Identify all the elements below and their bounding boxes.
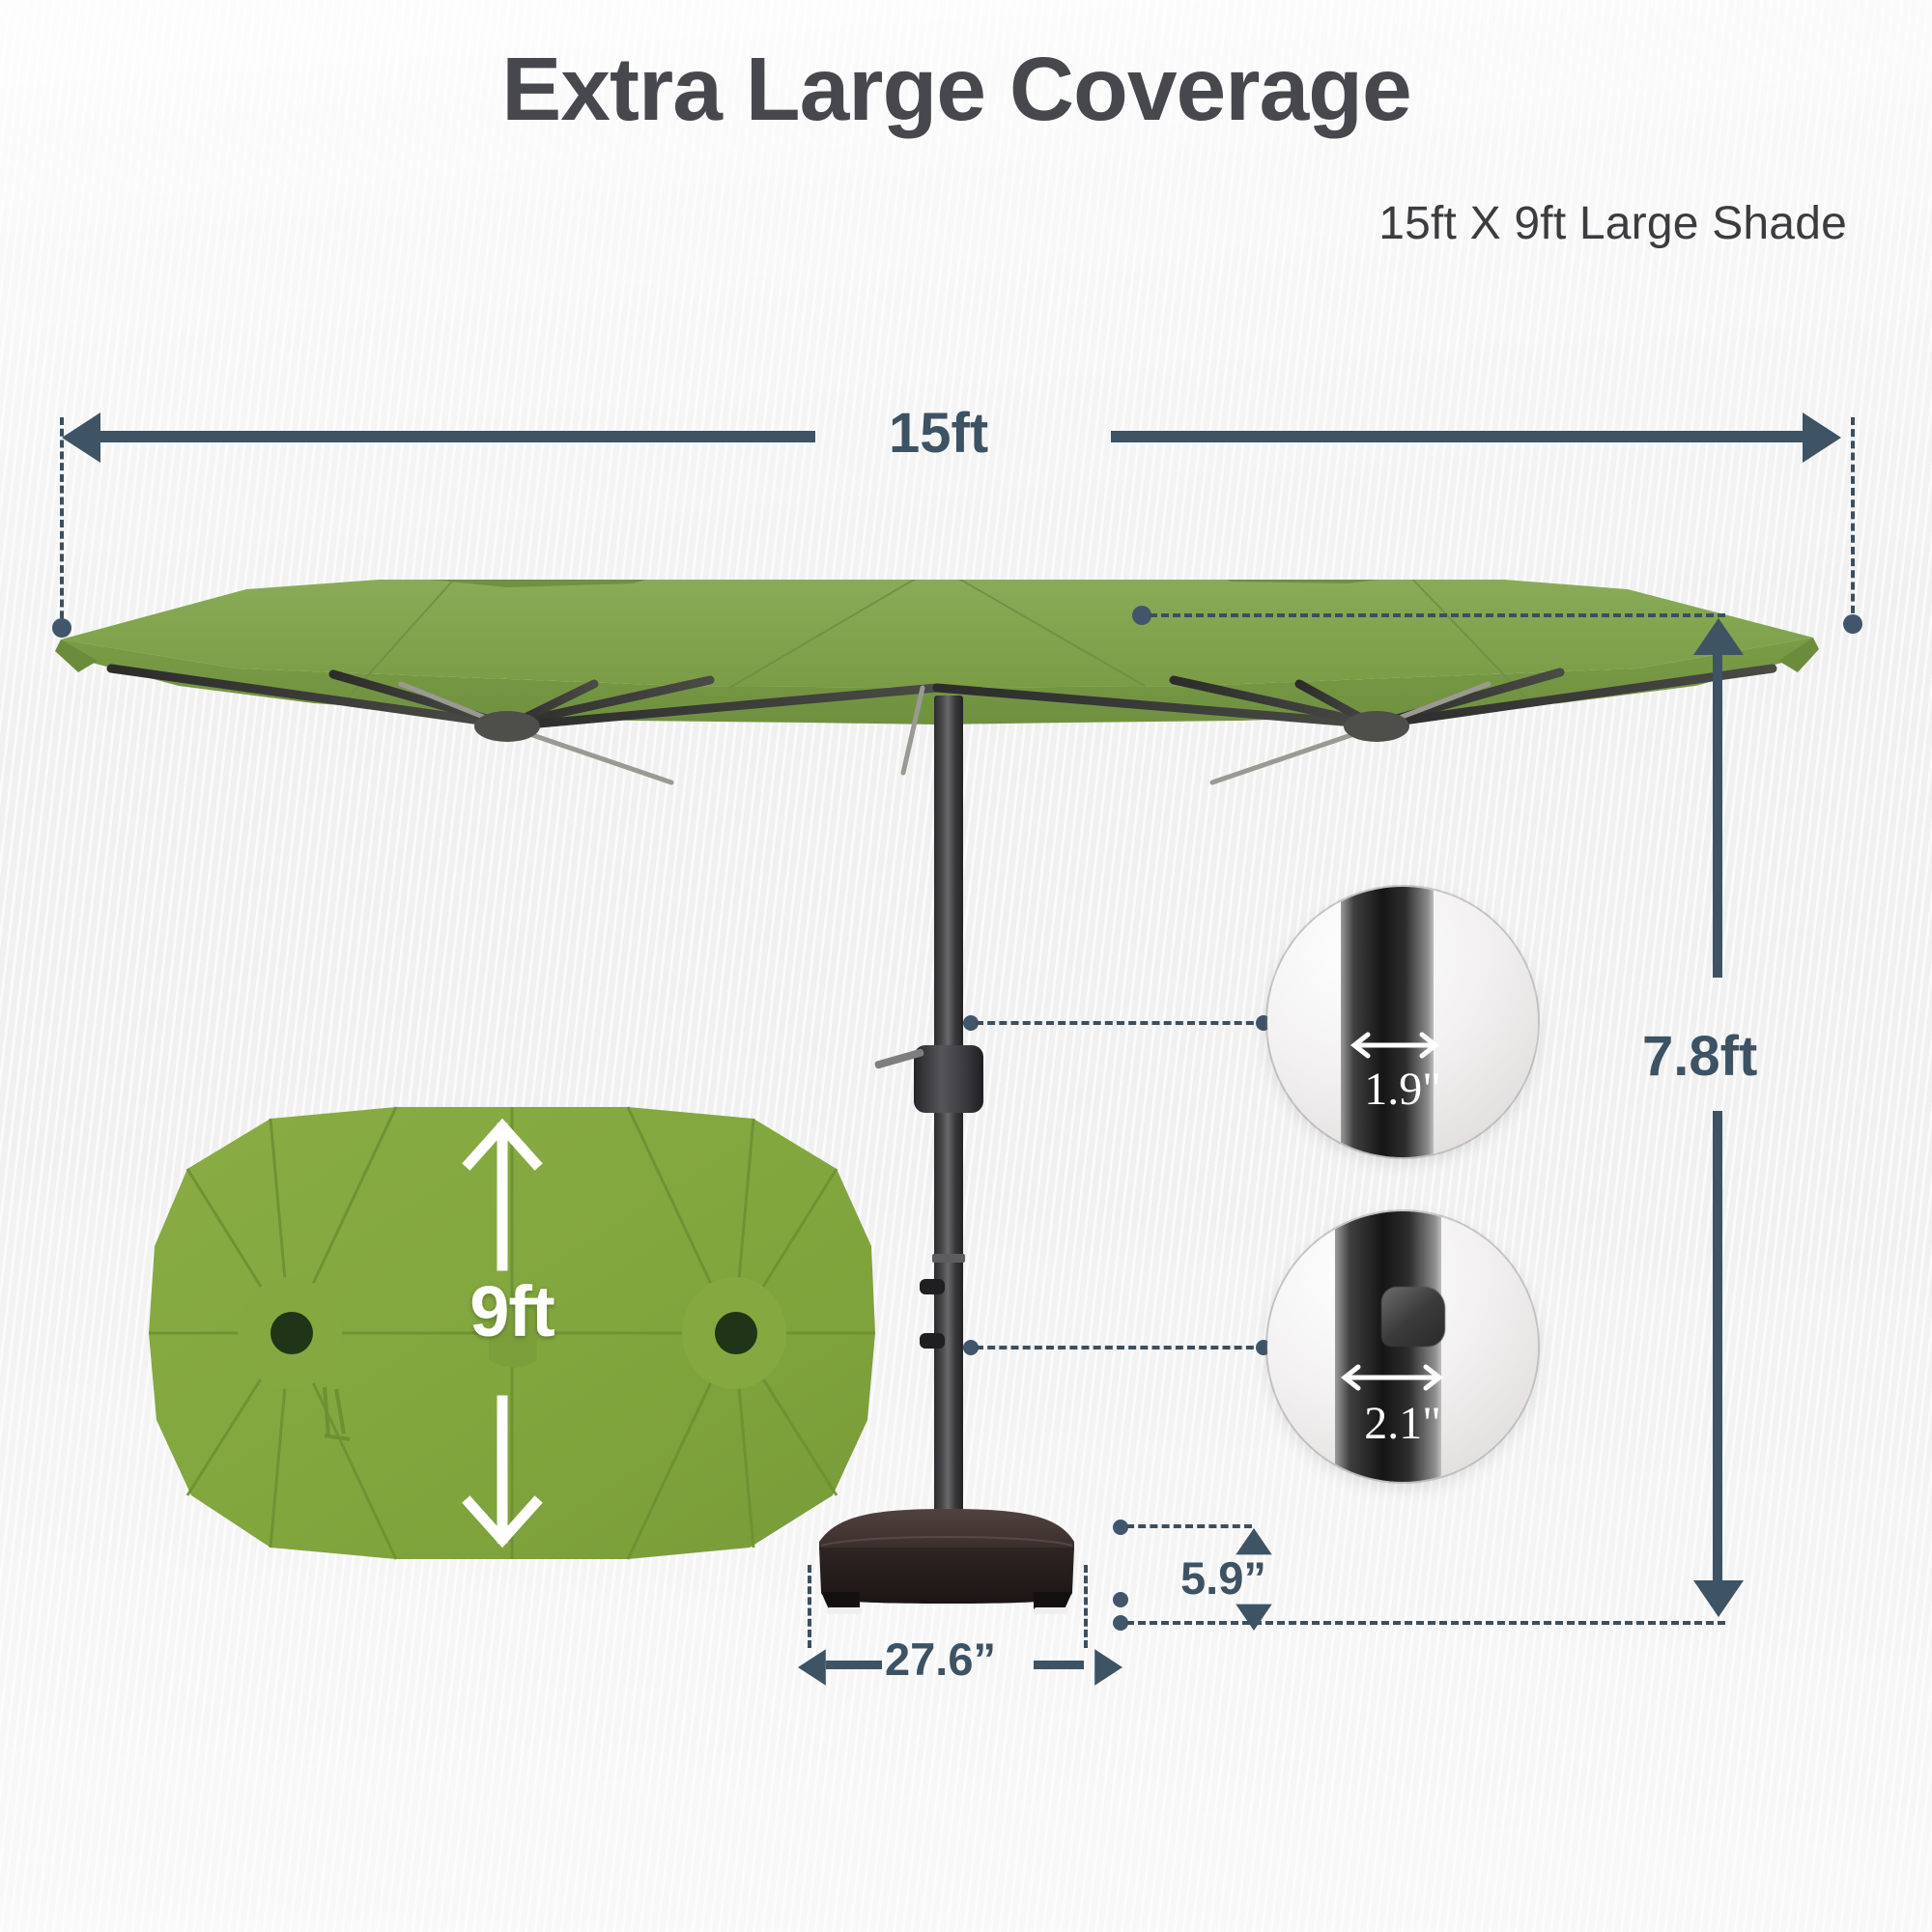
page-title: Extra Large Coverage xyxy=(0,43,1932,137)
base-foot-right xyxy=(1034,1592,1072,1609)
umbrella-center-pole xyxy=(934,696,963,1546)
canopy-depth-label: 9ft xyxy=(145,1270,879,1352)
base-width-extension-right xyxy=(1084,1565,1088,1648)
canopy-hub-left xyxy=(474,711,540,742)
height-leader-top xyxy=(1150,613,1725,617)
upper-pole-leader-line xyxy=(976,1021,1265,1025)
base-width-line-right xyxy=(1034,1661,1084,1669)
height-arrowhead-top xyxy=(1693,618,1744,655)
magnifier-upper-pole: 1.9" xyxy=(1267,887,1538,1157)
lower-pole-caliper xyxy=(1267,1358,1538,1397)
base-width-line-left xyxy=(826,1661,882,1669)
height-line-lower xyxy=(1713,1111,1722,1580)
base-foot-left xyxy=(821,1592,860,1609)
width-label: 15ft xyxy=(889,401,988,466)
base-height-leader-top xyxy=(1126,1524,1252,1528)
width-anchor-dot-right xyxy=(1843,614,1862,634)
base-height-anchor-dot-bottom xyxy=(1113,1592,1128,1607)
base-height-arrowhead-bottom xyxy=(1236,1605,1271,1631)
height-label: 7.8ft xyxy=(1642,1024,1757,1089)
base-pad-left xyxy=(827,1607,862,1614)
width-arrowhead-right xyxy=(1803,412,1841,463)
height-leader-bottom xyxy=(1126,1621,1725,1625)
width-arrowhead-left xyxy=(62,412,100,463)
magnified-pole-knob xyxy=(1381,1287,1445,1347)
pole-collar-upper xyxy=(932,1254,965,1263)
pole-bolt-upper xyxy=(920,1279,945,1294)
height-arrowhead-bottom xyxy=(1693,1580,1744,1617)
base-height-label: 5.9” xyxy=(1180,1551,1266,1605)
pole-bolt-lower xyxy=(920,1333,945,1349)
magnifier-lower-pole: 2.1" xyxy=(1267,1211,1538,1482)
width-line-left xyxy=(100,431,815,442)
infographic-canvas: Extra Large Coverage 15ft X 9ft Large Sh… xyxy=(0,0,1932,1932)
height-line-upper xyxy=(1713,653,1722,978)
page-subtitle: 15ft X 9ft Large Shade xyxy=(1378,199,1847,250)
lower-pole-label: 2.1" xyxy=(1267,1401,1538,1447)
width-extension-right xyxy=(1851,417,1855,625)
magnified-upper-pole xyxy=(1341,887,1434,1157)
base-width-arrowhead-right xyxy=(1094,1649,1122,1685)
width-line-right xyxy=(1111,431,1803,442)
base-width-extension-left xyxy=(808,1565,811,1648)
base-width-arrowhead-left xyxy=(798,1649,826,1685)
lower-pole-leader-line xyxy=(976,1346,1265,1350)
height-anchor-dot-top xyxy=(1132,606,1151,625)
canopy-hub-right xyxy=(1344,711,1409,742)
upper-pole-label: 1.9" xyxy=(1267,1066,1538,1113)
upper-pole-caliper xyxy=(1267,1026,1538,1065)
crank-handle xyxy=(914,1045,983,1113)
base-pad-right xyxy=(1034,1607,1068,1614)
base-width-label: 27.6” xyxy=(885,1633,996,1686)
